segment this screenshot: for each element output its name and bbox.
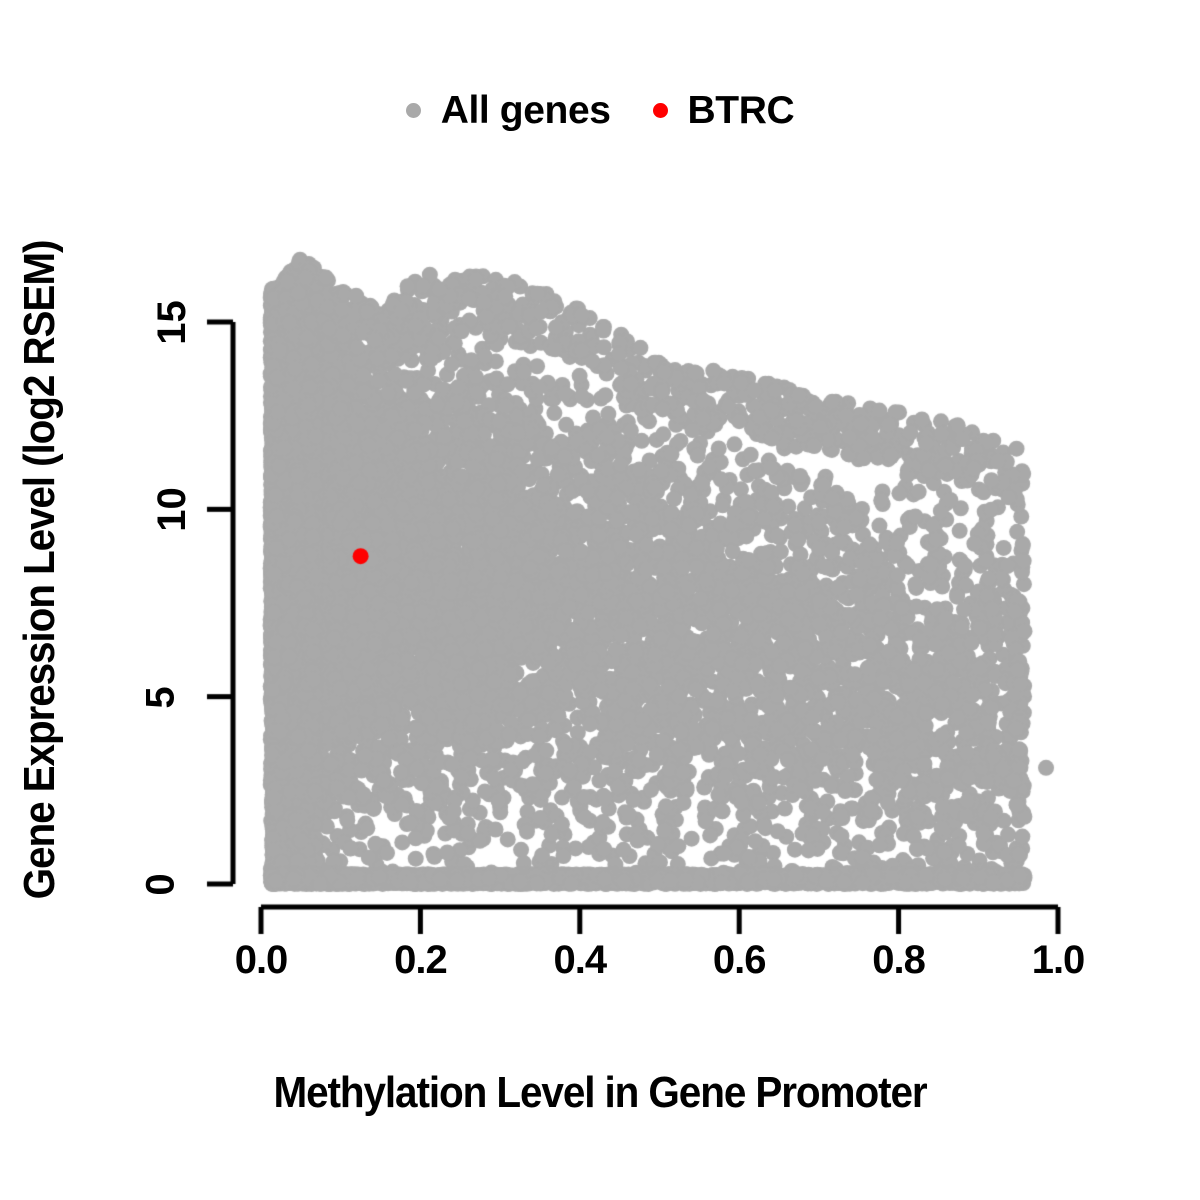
x-tick-label: 0.6 xyxy=(713,938,766,983)
y-tick-label: 15 xyxy=(150,300,195,345)
x-tick-label: 1.0 xyxy=(1032,938,1085,983)
x-tick-label: 0.0 xyxy=(235,938,288,983)
legend-marker-all-genes-icon xyxy=(406,103,421,118)
y-axis-title: Gene Expression Level (log2 RSEM) xyxy=(15,156,65,984)
y-tick-label: 0 xyxy=(139,873,184,895)
legend-marker-btrc-icon xyxy=(653,103,668,118)
x-tick-label: 0.8 xyxy=(872,938,925,983)
legend-label-all-genes: All genes xyxy=(441,91,611,130)
legend-entry-all-genes: All genes xyxy=(406,91,611,130)
chart-legend: All genes BTRC xyxy=(0,80,1200,140)
y-tick-label: 10 xyxy=(150,488,195,533)
legend-entry-btrc: BTRC xyxy=(653,91,795,130)
legend-label-btrc: BTRC xyxy=(688,91,795,130)
x-axis-title: Methylation Level in Gene Promoter xyxy=(48,1068,1152,1118)
x-tick-label: 0.4 xyxy=(553,938,606,983)
y-axis-title-container: Gene Expression Level (log2 RSEM) xyxy=(0,0,80,1200)
scatter-plot-figure: All genes BTRC 0.00.20.40.60.81.0 051015… xyxy=(0,0,1200,1200)
x-tick-label: 0.2 xyxy=(394,938,447,983)
y-tick-label: 5 xyxy=(139,686,184,708)
scatter-plot-canvas xyxy=(0,0,1200,1200)
